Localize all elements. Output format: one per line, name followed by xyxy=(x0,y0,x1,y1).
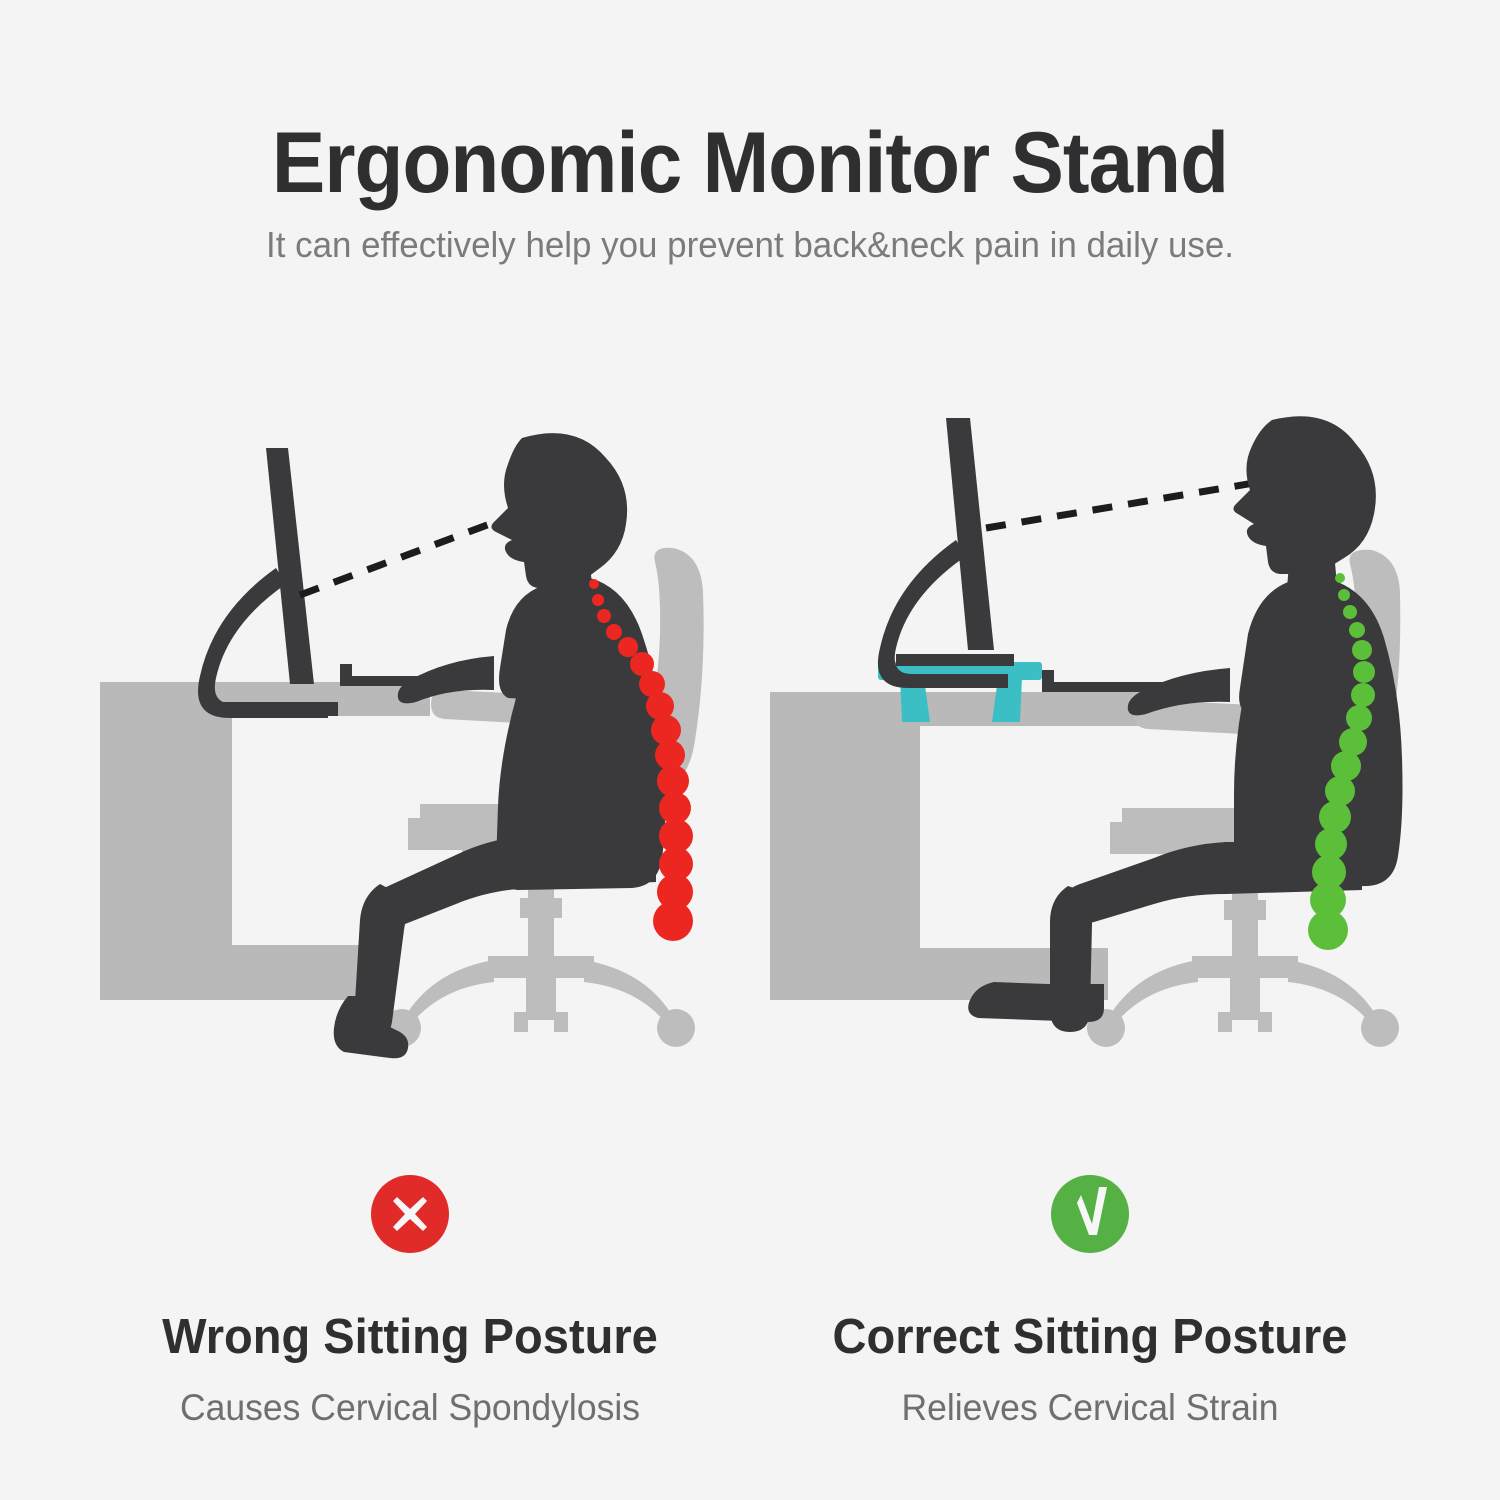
caption-wrong: Wrong Sitting Posture Causes Cervical Sp… xyxy=(60,1175,760,1429)
wrong-posture-illustration xyxy=(90,400,770,1080)
illustration-panels xyxy=(0,400,1500,1080)
caption-correct: Correct Sitting Posture Relieves Cervica… xyxy=(740,1175,1440,1429)
sight-line xyxy=(300,512,522,595)
cross-circle-icon xyxy=(371,1175,449,1253)
captions: Wrong Sitting Posture Causes Cervical Sp… xyxy=(0,1175,1500,1435)
sight-line xyxy=(986,482,1260,528)
page-title: Ergonomic Monitor Stand xyxy=(53,118,1448,208)
infographic-page: Ergonomic Monitor Stand It can effective… xyxy=(0,0,1500,1500)
correct-posture-illustration xyxy=(760,400,1440,1080)
caption-correct-subtitle: Relieves Cervical Strain xyxy=(754,1387,1426,1429)
caption-correct-title: Correct Sitting Posture xyxy=(754,1311,1426,1365)
monitor xyxy=(878,418,1014,688)
caption-wrong-title: Wrong Sitting Posture xyxy=(74,1311,746,1365)
header: Ergonomic Monitor Stand It can effective… xyxy=(0,118,1500,266)
page-subtitle: It can effectively help you prevent back… xyxy=(23,224,1478,266)
monitor xyxy=(198,448,338,718)
check-circle-icon xyxy=(1051,1175,1129,1253)
caption-wrong-subtitle: Causes Cervical Spondylosis xyxy=(74,1387,746,1429)
